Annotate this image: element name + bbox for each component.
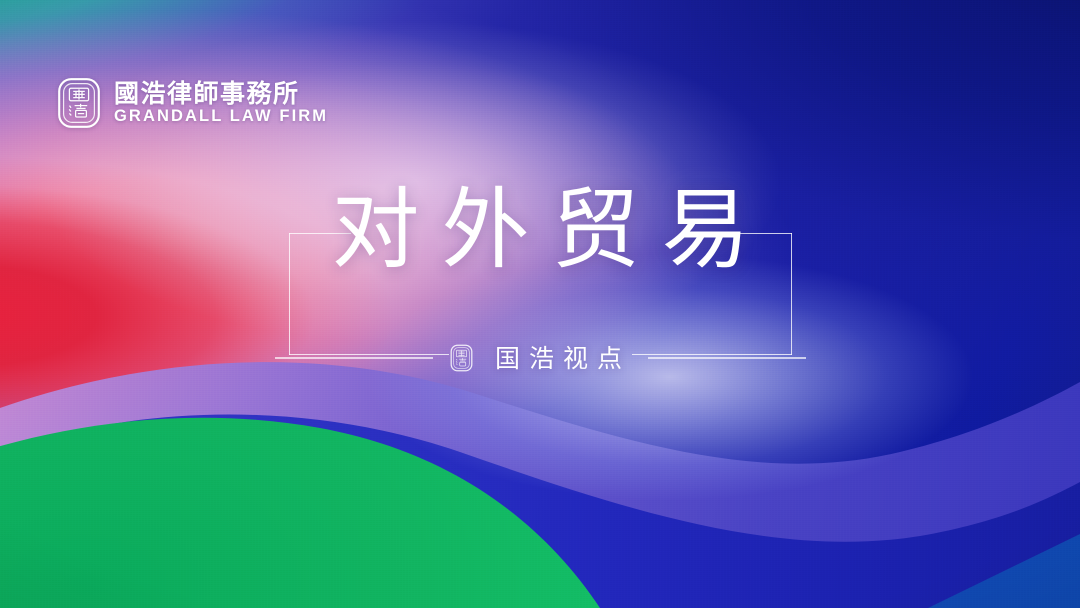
grandall-seal-small-icon <box>450 344 473 372</box>
brand-logo-text: 國浩律師事務所 GRANDALL LAW FIRM <box>114 81 328 125</box>
subtitle-rule-right <box>648 357 806 358</box>
brand-logo-lockup: 國浩律師事務所 GRANDALL LAW FIRM <box>57 77 328 129</box>
poster-canvas: 國浩律師事務所 GRANDALL LAW FIRM 对外贸易 <box>0 0 1080 608</box>
brand-name-cn: 國浩律師事務所 <box>114 81 328 106</box>
brand-name-en: GRANDALL LAW FIRM <box>114 108 328 125</box>
subtitle-rule-left <box>275 357 433 358</box>
title-bracket-frame: 对外贸易 <box>289 233 792 355</box>
subtitle-text: 国浩视点 <box>486 346 631 371</box>
subtitle-center-group: 国浩视点 <box>448 344 633 372</box>
page-title: 对外贸易 <box>289 186 792 274</box>
grandall-seal-icon <box>57 77 101 129</box>
subtitle-strip: 国浩视点 <box>289 344 792 372</box>
